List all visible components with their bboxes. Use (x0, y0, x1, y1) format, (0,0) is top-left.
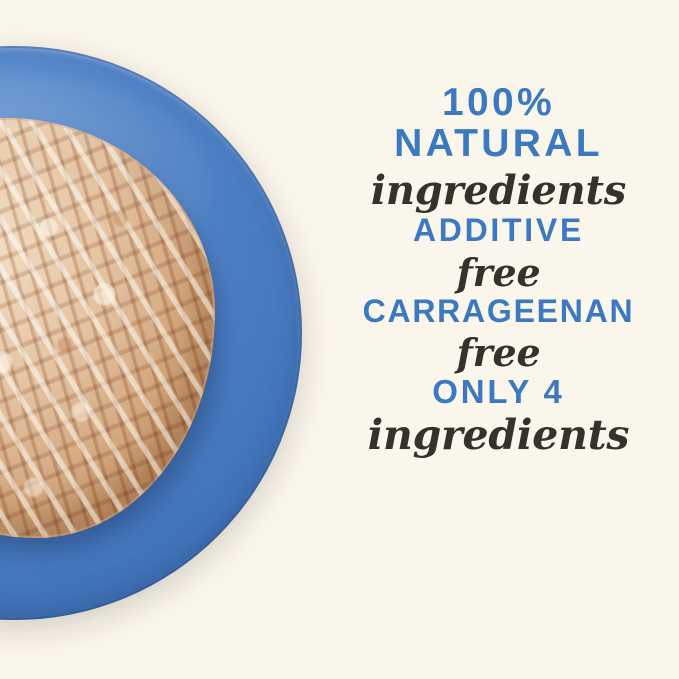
claim-only-4-ingredients: ONLY 4 ingredients (318, 375, 679, 459)
claim-subtext: free (318, 250, 679, 295)
claim-subtext: ingredients (318, 411, 679, 459)
food-serving (0, 118, 215, 538)
claims-list: 100% NATURAL ingredients ADDITIVE free C… (318, 0, 679, 679)
claim-carrageenan-free: CARRAGEENAN free (318, 295, 679, 376)
claim-subtext: ingredients (318, 167, 679, 214)
claim-natural-ingredients: 100% NATURAL ingredients (318, 82, 679, 214)
product-photo (0, 0, 330, 679)
food-edge (0, 118, 215, 538)
claim-headline-line-1: ADDITIVE (318, 214, 679, 248)
claim-subtext: free (318, 330, 679, 375)
claim-headline-line-1: ONLY 4 (318, 375, 679, 410)
claim-headline-line-1: 100% (318, 82, 679, 123)
claim-headline-line-2: NATURAL (318, 123, 679, 164)
product-claims-graphic: 100% NATURAL ingredients ADDITIVE free C… (0, 0, 679, 679)
claim-additive-free: ADDITIVE free (318, 214, 679, 295)
claim-headline-line-1: CARRAGEENAN (318, 295, 679, 329)
